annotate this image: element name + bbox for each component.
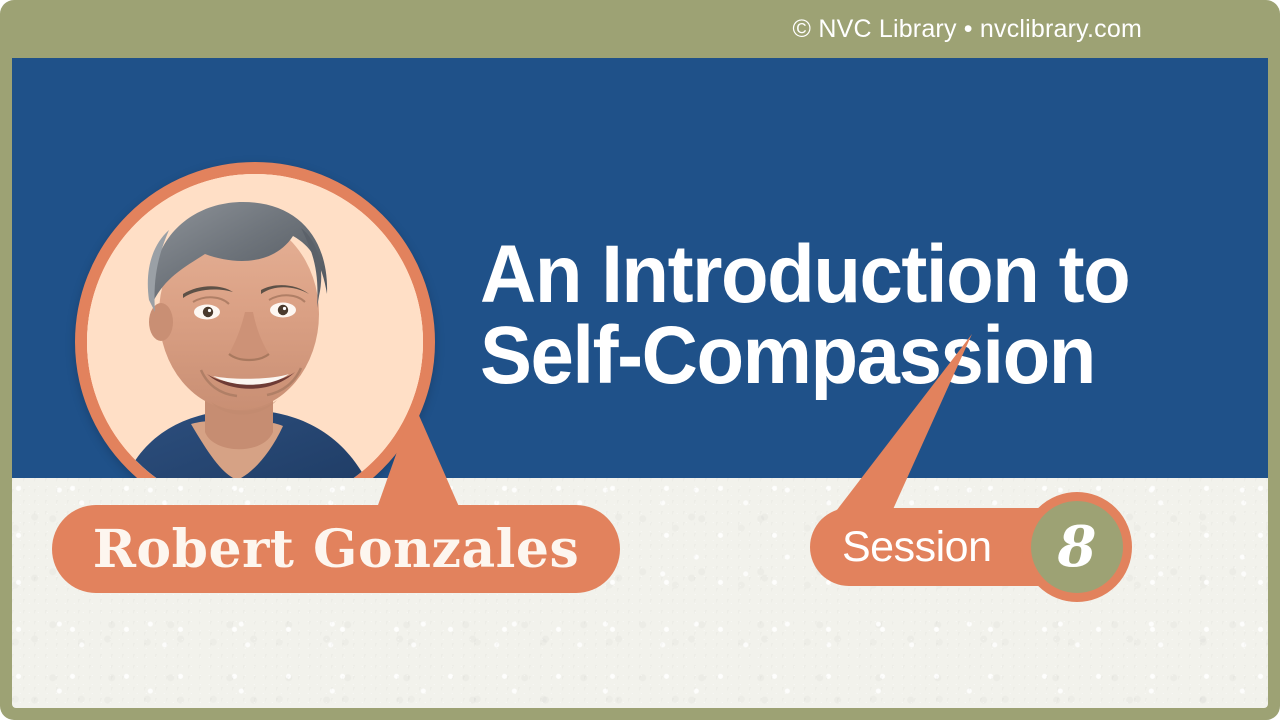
session-label: Session (842, 523, 991, 572)
hero-panel: An Introduction to Self-Compassion (12, 58, 1268, 478)
session-number: 8 (1058, 519, 1097, 575)
session-number-circle: 8 (1022, 492, 1132, 602)
speaker-name-label: Robert Gonzales (93, 519, 580, 580)
speaker-name-pill: Robert Gonzales (52, 505, 620, 593)
title-line-2: Self-Compassion (480, 315, 1145, 396)
copyright-text: © NVC Library • nvclibrary.com (793, 15, 1142, 44)
video-title-slide: © NVC Library • nvclibrary.com (0, 0, 1280, 720)
copyright-bar: © NVC Library • nvclibrary.com (0, 0, 1280, 58)
title-line-1: An Introduction to (480, 234, 1145, 315)
